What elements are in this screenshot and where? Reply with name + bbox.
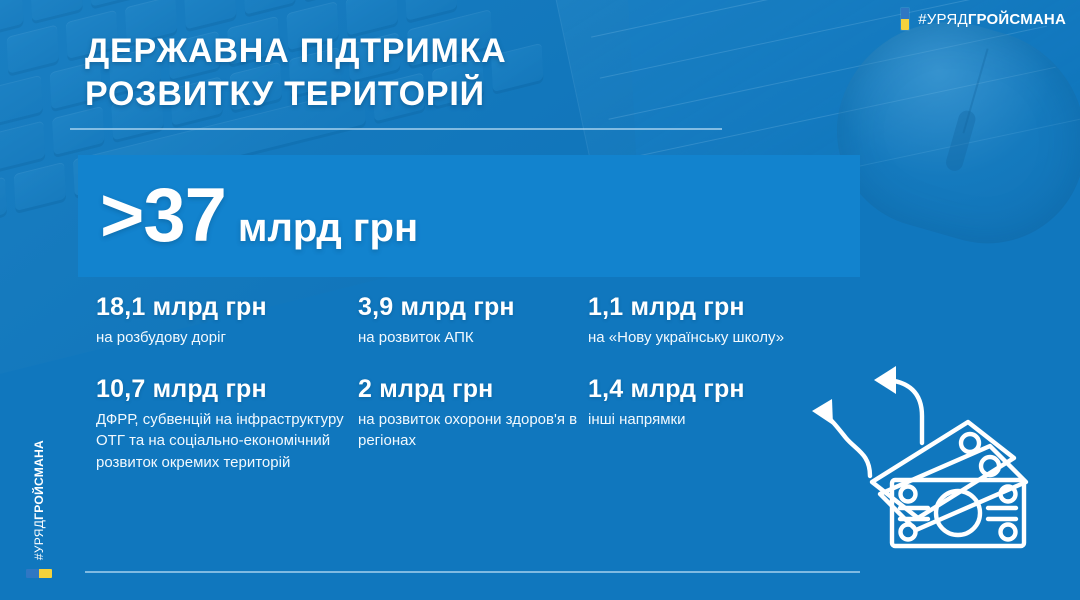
brand-hashtag-bold: ГРОЙСМАНА: [968, 11, 1066, 28]
headline-total: >37 млрд грн: [78, 178, 418, 254]
brand-hashtag-vertical: #УРЯДГРОЙСМАНА: [33, 440, 45, 560]
stat-amount: 1,1 млрд грн: [588, 293, 888, 321]
page-title-line-1: ДЕРЖАВНА ПІДТРИМКА: [85, 30, 845, 73]
divider-bottom: [85, 571, 860, 573]
stat-item-school: 1,1 млрд грн на «Нову українську школу»: [588, 293, 888, 349]
brand-logo-top-right[interactable]: #УРЯДГРОЙСМАНА: [901, 8, 1066, 30]
page-title: ДЕРЖАВНА ПІДТРИМКА РОЗВИТКУ ТЕРИТОРІЙ: [85, 30, 845, 116]
stat-item-healthcare: 2 млрд грн на розвиток охорони здоров'я …: [358, 375, 588, 474]
stat-item-agro: 3,9 млрд грн на розвиток АПК: [358, 293, 588, 349]
ukraine-flag-icon: [901, 8, 909, 30]
brand-hashtag-vertical-thin: #УРЯД: [32, 520, 46, 560]
stat-amount: 2 млрд грн: [358, 375, 588, 403]
infographic-canvas: #УРЯДГРОЙСМАНА #УРЯДГРОЙСМАНА ДЕРЖАВНА П…: [0, 0, 1080, 600]
headline-total-band: >37 млрд грн: [78, 155, 860, 277]
stat-amount: 3,9 млрд грн: [358, 293, 588, 321]
banknotes-with-arrows-icon: [800, 358, 1050, 573]
stat-amount: 18,1 млрд грн: [96, 293, 358, 321]
page-title-line-2: РОЗВИТКУ ТЕРИТОРІЙ: [85, 73, 845, 116]
stat-amount: 10,7 млрд грн: [96, 375, 358, 403]
stat-description: на розвиток АПК: [358, 327, 588, 349]
brand-logo-side-vertical[interactable]: #УРЯДГРОЙСМАНА: [26, 440, 52, 578]
stat-description: на «Нову українську школу»: [588, 327, 888, 349]
stat-item-roads: 18,1 млрд грн на розбудову доріг: [96, 293, 358, 349]
headline-total-number: >37: [100, 178, 226, 254]
headline-total-unit: млрд грн: [238, 208, 418, 248]
brand-hashtag-thin: #УРЯД: [918, 11, 968, 28]
stat-description: ДФРР, субвенцій на інфраструктуру ОТГ та…: [96, 409, 358, 474]
divider-top: [70, 128, 722, 130]
stat-description: на розбудову доріг: [96, 327, 358, 349]
brand-hashtag-vertical-bold: ГРОЙСМАНА: [32, 440, 46, 520]
brand-hashtag: #УРЯДГРОЙСМАНА: [918, 12, 1066, 27]
stat-item-dfrr: 10,7 млрд грн ДФРР, субвенцій на інфраст…: [96, 375, 358, 474]
stat-description: на розвиток охорони здоров'я в регіонах: [358, 409, 588, 452]
ukraine-flag-icon-horizontal: [26, 569, 52, 578]
stats-grid: 18,1 млрд грн на розбудову доріг 3,9 млр…: [96, 293, 896, 473]
